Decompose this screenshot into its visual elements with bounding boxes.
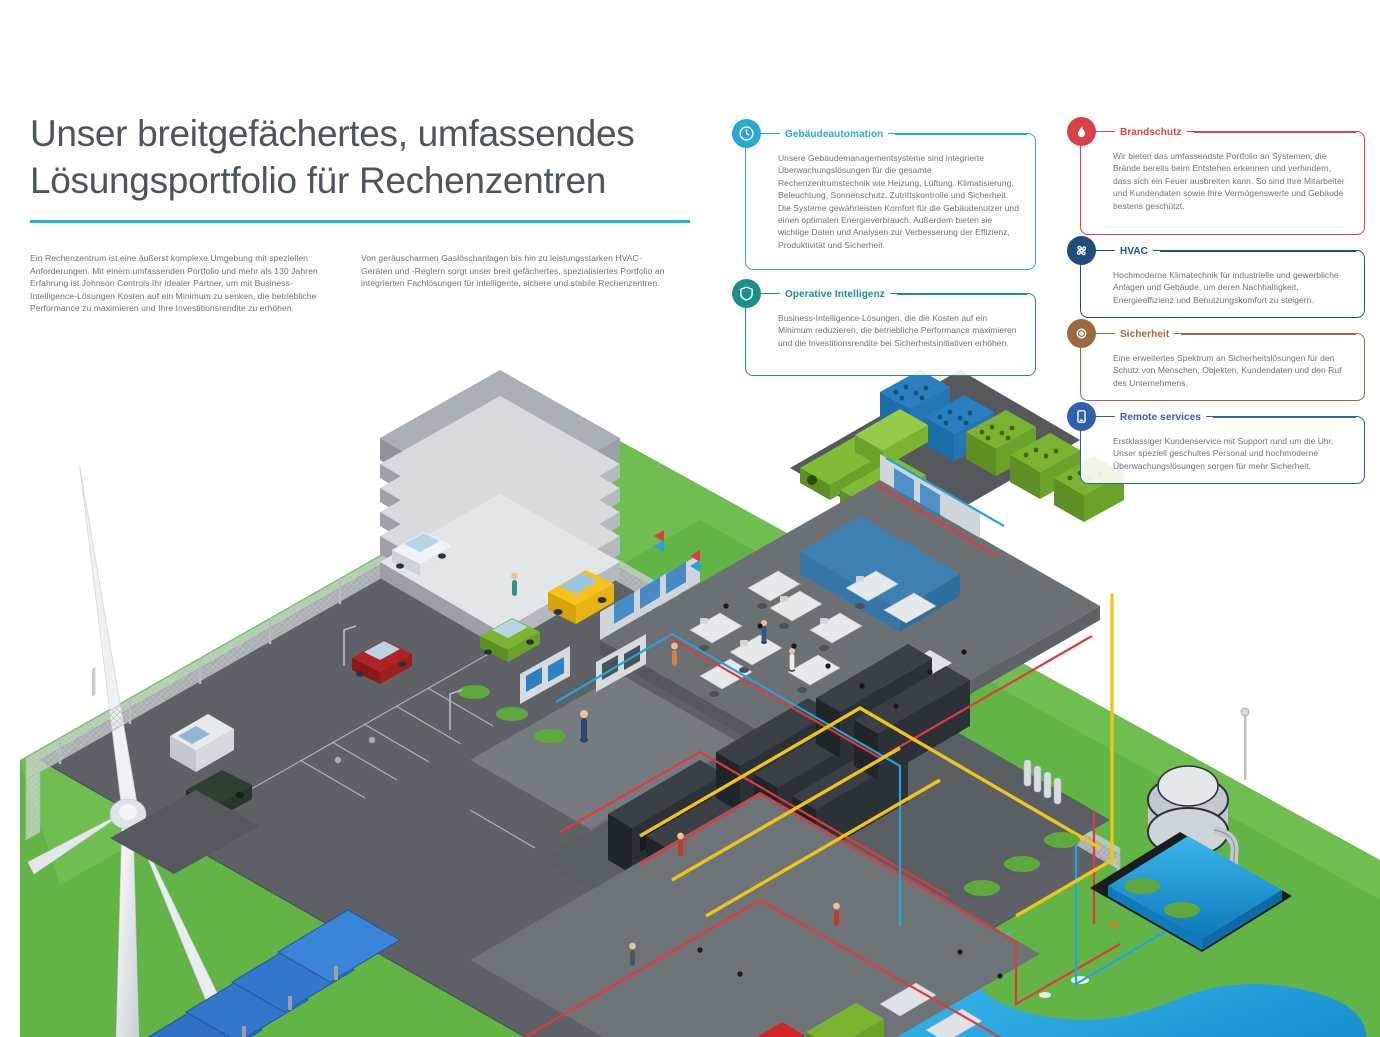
- security-operator: [580, 710, 588, 743]
- page-title-line1: Unser breitgefächertes, umfassendes: [30, 110, 690, 157]
- callout-title: HVAC: [1115, 246, 1153, 257]
- callout-header: Brandschutz: [1115, 124, 1356, 140]
- callout-header: Gebäudeautomation: [780, 126, 1027, 142]
- hvac-fan-icon: [1067, 236, 1096, 265]
- intro-column-left: Ein Rechenzentrum ist eine äußerst kompl…: [30, 252, 335, 315]
- callout-body: Hochmoderne Klimatechnik für industriell…: [1081, 251, 1364, 316]
- callout-gebaeudeautomation[interactable]: Gebäudeautomation Unsere Gebäudemanageme…: [745, 133, 1036, 270]
- callout-title: Gebäudeautomation: [780, 129, 888, 140]
- header-rule: [1160, 251, 1356, 252]
- callout-title: Sicherheit: [1115, 329, 1174, 340]
- header-rule: [1213, 417, 1356, 418]
- intro-paragraphs: Ein Rechenzentrum ist eine äußerst kompl…: [30, 252, 680, 315]
- shield-icon: [732, 279, 761, 308]
- callout-remote-services[interactable]: Remote services Erstklassiger Kundenserv…: [1080, 416, 1365, 484]
- callout-hvac[interactable]: HVAC Hochmoderne Klimatechnik für indust…: [1080, 250, 1365, 318]
- callout-header: Operative Intelligenz: [780, 286, 1027, 302]
- callout-operative-intelligenz[interactable]: Operative Intelligenz Business-Intellige…: [745, 293, 1036, 376]
- intro-column-right: Von geräuscharmen Gaslöschanlagen bis hi…: [361, 252, 666, 315]
- callout-header: Sicherheit: [1115, 326, 1356, 342]
- page-title-line2: Lösungsportfolio für Rechenzentren: [30, 157, 690, 204]
- callout-title: Remote services: [1115, 412, 1206, 423]
- page-header: Unser breitgefächertes, umfassendes Lösu…: [30, 110, 690, 223]
- callout-body: Wir bieten das umfassendste Portfolio an…: [1081, 132, 1364, 222]
- flame-icon: [1067, 117, 1096, 146]
- infographic-page: Unser breitgefächertes, umfassendes Lösu…: [0, 0, 1380, 1037]
- header-rule: [895, 134, 1027, 135]
- remote-support-icon: [1067, 402, 1096, 431]
- header-rule: [1194, 132, 1356, 133]
- title-underline: [30, 220, 690, 223]
- header-rule: [897, 294, 1027, 295]
- callout-title: Brandschutz: [1115, 127, 1187, 138]
- callout-body: Unsere Gebäudemanagementsysteme sind int…: [746, 134, 1035, 261]
- callout-title: Operative Intelligenz: [780, 289, 890, 300]
- callout-body: Eine erweitertes Spektrum an Sicherheits…: [1081, 334, 1364, 399]
- callout-sicherheit[interactable]: Sicherheit Eine erweitertes Spektrum an …: [1080, 333, 1365, 401]
- callout-header: Remote services: [1115, 409, 1356, 425]
- antenna-mast: [1241, 708, 1249, 780]
- header-rule: [1181, 334, 1356, 335]
- callout-brandschutz[interactable]: Brandschutz Wir bieten das umfassendste …: [1080, 131, 1365, 235]
- security-camera-icon: [1067, 319, 1096, 348]
- callout-body: Business-Intelligence-Lösungen, die die …: [746, 294, 1035, 359]
- building-automation-icon: [732, 119, 761, 148]
- callout-header: HVAC: [1115, 243, 1356, 259]
- callout-body: Erstklassiger Kundenservice mit Support …: [1081, 417, 1364, 482]
